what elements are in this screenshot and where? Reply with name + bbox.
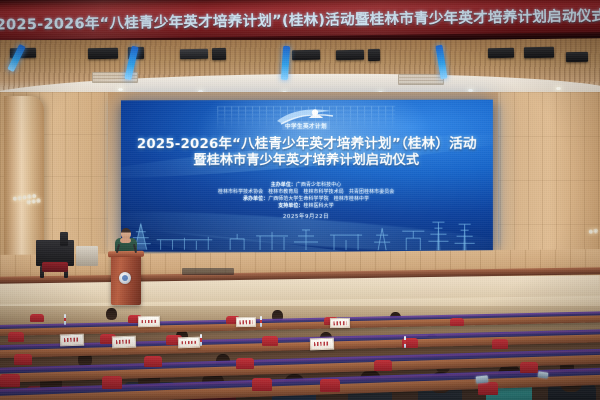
placard-text (64, 338, 80, 343)
name-placard[interactable] (236, 317, 256, 327)
placard-text (314, 342, 330, 347)
recessed-downlight (118, 88, 123, 91)
organizer-value: 桂林医科大学 (303, 203, 333, 209)
screen-title-line-2: 暨桂林市青少年英才培养计划启动仪式 (121, 152, 493, 168)
event-photograph: ✹✺✹✺✹ ✺✹✺ ✹✺ 中学生英才计划 2025-2026年“八桂青少年英才培… (0, 0, 600, 400)
organizer-value: 广西青少年科技中心 (296, 182, 341, 188)
ac-vent (398, 74, 444, 85)
seat (102, 376, 122, 389)
auditorium-seating-area (0, 306, 600, 400)
podium-emblem (119, 272, 131, 284)
organizer-credits: 主办单位：广西青少年科技中心 桂林市科学技术协会 桂林市教育局 桂林市科学技术局… (121, 182, 493, 211)
overhead-event-banner: 2025-2026年“八桂青少年英才培养计划”(桂林)活动暨桂林市青少年英才培养… (0, 0, 600, 40)
smartphone[interactable] (538, 371, 549, 378)
placard-text (239, 320, 252, 324)
seat (144, 356, 162, 367)
seat (374, 360, 392, 371)
speaker-box (566, 52, 588, 62)
speaker-box (292, 50, 320, 60)
placard-text (142, 319, 157, 323)
equipment-pole (60, 232, 68, 246)
organizer-label: 主办单位： (271, 182, 296, 188)
speaker-box (180, 49, 208, 59)
smartphone[interactable] (476, 375, 489, 383)
organizer-label: 支持单位： (278, 203, 303, 209)
placard-text (333, 321, 346, 325)
recessed-downlight (556, 87, 561, 90)
name-placard[interactable] (60, 334, 84, 347)
speaker-box (488, 48, 514, 58)
speaker-collar (120, 238, 131, 243)
name-placard[interactable] (310, 338, 334, 351)
speaker-box (88, 48, 118, 60)
placard-text (182, 340, 197, 344)
screen-title: 2025-2026年“八桂青少年英才培养计划”（桂林）活动 暨桂林市青少年英才培… (121, 136, 493, 169)
podium-top-surface (108, 251, 144, 258)
screen-title-line-1: 2025-2026年“八桂青少年英才培养计划”（桂林）活动 (121, 136, 493, 153)
placard-text (116, 340, 132, 345)
speaker-box (368, 49, 380, 61)
red-cloth-cover (42, 262, 68, 272)
name-placard[interactable] (138, 316, 160, 327)
speaker-box (524, 47, 554, 59)
organizer-label: 承办单位： (243, 196, 268, 202)
led-display-screen: 中学生英才计划 2025-2026年“八桂青少年英才培养计划”（桂林）活动 暨桂… (121, 100, 493, 253)
seat (520, 362, 538, 373)
seat (492, 339, 508, 349)
speaker-box (212, 48, 226, 60)
organizer-row: 支持单位：桂林医科大学 (121, 203, 493, 210)
logo-caption: 中学生英才计划 (282, 121, 330, 130)
stage-cable-run (182, 268, 234, 275)
organizer-value: 桂林市科学技术协会 桂林市教育局 桂林市科学技术局 共青团桂林市委员会 (218, 189, 394, 195)
name-placard[interactable] (178, 337, 200, 349)
name-placard[interactable] (330, 318, 350, 328)
seat (262, 336, 278, 346)
seat (478, 382, 498, 395)
organizer-value: 广西师范大学生命科学学院 桂林市桂林中学 (268, 196, 369, 202)
seat (30, 314, 44, 322)
seat (14, 354, 32, 365)
audience-head (106, 308, 117, 320)
seat (236, 358, 254, 369)
name-placard[interactable] (112, 336, 136, 349)
side-chair (76, 246, 98, 266)
event-date: 2025年9月22日 (121, 212, 493, 220)
seat (252, 378, 272, 391)
seat (0, 374, 20, 387)
seat (8, 332, 24, 342)
speaker-box (336, 50, 364, 60)
seat (450, 318, 464, 326)
crystal-wall-sconce: ✺✹✺ (26, 199, 41, 206)
crystal-wall-sconce: ✹✺ (588, 229, 598, 235)
seat (320, 379, 340, 392)
